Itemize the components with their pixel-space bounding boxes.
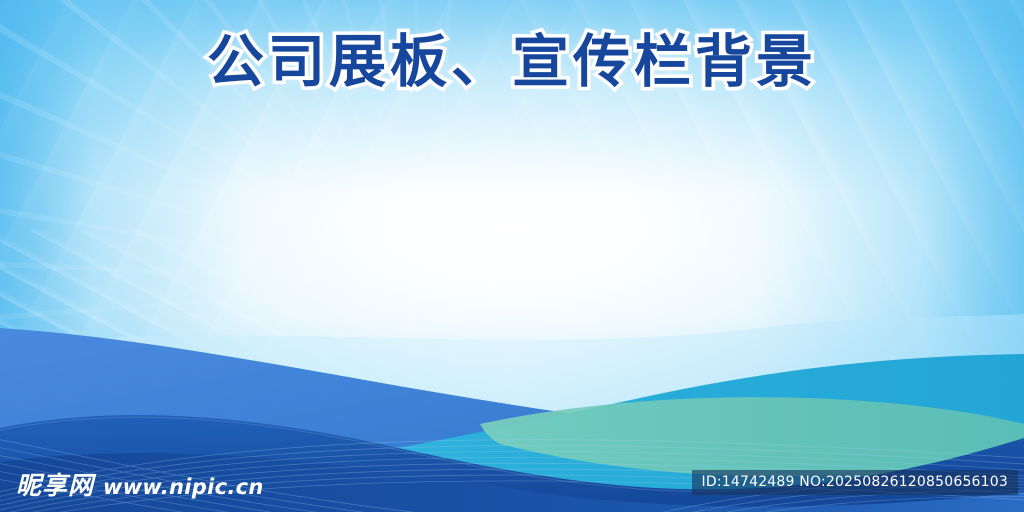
poster-canvas: 公司展板、宣传栏背景 (0, 0, 1024, 512)
title-container: 公司展板、宣传栏背景 (0, 16, 1024, 98)
watermark-logo: 昵享网 www.nipic.cn (16, 473, 264, 498)
nipic-logo-mark: 昵享网 (16, 473, 94, 498)
page-title: 公司展板、宣传栏背景 (207, 16, 817, 98)
nipic-logo-url: www.nipic.cn (103, 477, 264, 498)
watermark-id-badge: ID:14742489 NO:20250826120850656103 (692, 470, 1018, 495)
